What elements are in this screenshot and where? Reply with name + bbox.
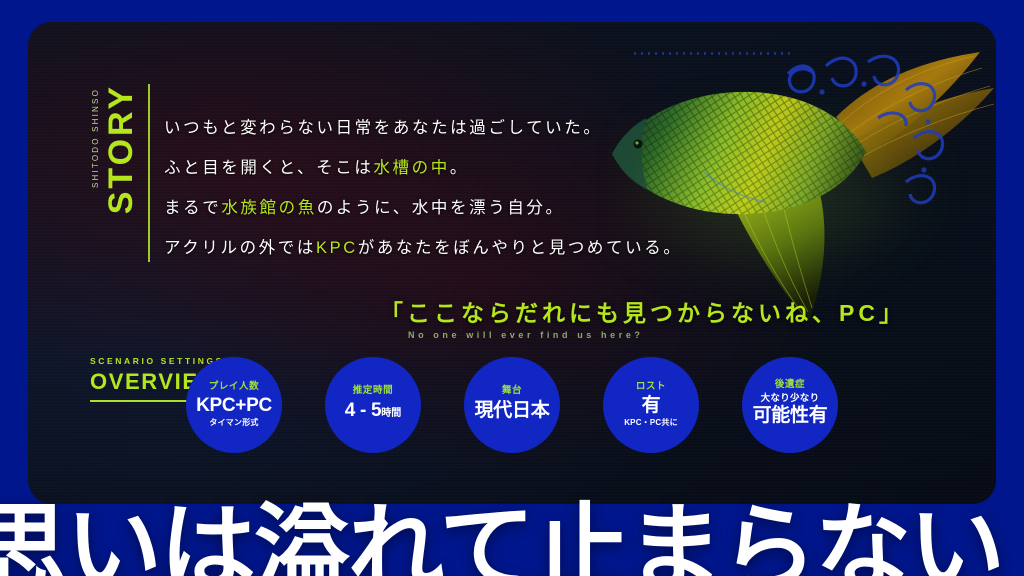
badge-label: プレイ人数 (209, 382, 260, 393)
badge-value: 現代日本 (475, 400, 550, 421)
overview-badge-aftereffects: 後遺症 大なり少なり 可能性有 (742, 357, 838, 453)
overview-badge-setting: 舞台 現代日本 (464, 357, 560, 453)
badge-value: KPC+PC (196, 395, 272, 416)
story-paragraph: いつもと変わらない日常をあなたは過ごしていた。 ふと目を開くと、そこは水槽の中。… (164, 108, 724, 268)
story-divider-rule (148, 84, 150, 262)
feature-quote-translation: No one will ever find us here? (408, 330, 644, 340)
story-plain-text: いつもと変わらない日常をあなたは過ごしていた。 (164, 119, 602, 137)
badge-value-text: 現代日本 (475, 400, 550, 421)
badge-note: KPC・PC共に (624, 419, 678, 428)
overview-badge-list: プレイ人数 KPC+PC タイマン形式 推定時間 4 - 5時間 舞台 現代日本… (186, 357, 838, 453)
badge-value: 可能性有 (753, 405, 828, 426)
overview-badge-players: プレイ人数 KPC+PC タイマン形式 (186, 357, 282, 453)
headline-text: 思いは溢れて止まらない (0, 502, 1024, 576)
badge-label: 推定時間 (353, 386, 393, 397)
overview-badge-lost: ロスト 有 KPC・PC共に (603, 357, 699, 453)
badge-value-text: 有 (642, 395, 661, 416)
badge-prefix: 大なり少なり (761, 394, 820, 405)
story-subtitle: SHITODO SHINSO (92, 88, 100, 188)
story-plain-text: ふと目を開くと、そこは (164, 159, 373, 177)
story-highlight-text: 水族館の魚 (221, 199, 317, 217)
story-line: アクリルの外ではKPCがあなたをぼんやりと見つめている。 (164, 228, 724, 268)
badge-label: ロスト (636, 382, 666, 393)
badge-label: 舞台 (502, 386, 522, 397)
badge-value-text: 4 - 5 (345, 400, 382, 421)
story-line: ふと目を開くと、そこは水槽の中。 (164, 148, 724, 188)
story-plain-text: のように、水中を漂う自分。 (317, 199, 565, 217)
story-line: まるで水族館の魚のように、水中を漂う自分。 (164, 188, 724, 228)
story-plain-text: があなたをぼんやりと見つめている。 (358, 239, 683, 257)
story-line: いつもと変わらない日常をあなたは過ごしていた。 (164, 108, 724, 148)
badge-value-text: KPC+PC (196, 395, 272, 416)
story-plain-text: 。 (450, 159, 469, 177)
badge-value: 有 (642, 395, 661, 416)
badge-value-text: 可能性有 (753, 405, 828, 426)
slide-canvas: STORY SHITODO SHINSO いつもと変わらない日常をあなたは過ごし… (0, 0, 1024, 576)
feature-quote: 「ここならだれにも見つからないね、PC」 (380, 294, 906, 328)
badge-unit: 時間 (381, 408, 401, 419)
badge-value: 4 - 5時間 (345, 400, 402, 421)
badge-label: 後遺症 (775, 380, 805, 391)
story-vertical-label: STORY SHITODO SHINSO (90, 84, 150, 262)
story-title: STORY (104, 84, 138, 214)
story-highlight-text: 水槽の中 (373, 159, 449, 177)
story-plain-text: アクリルの外では (164, 239, 316, 257)
overview-badge-duration: 推定時間 4 - 5時間 (325, 357, 421, 453)
story-highlight-text: KPC (316, 239, 358, 257)
badge-note: タイマン形式 (209, 419, 258, 428)
story-plain-text: まるで (164, 199, 221, 217)
